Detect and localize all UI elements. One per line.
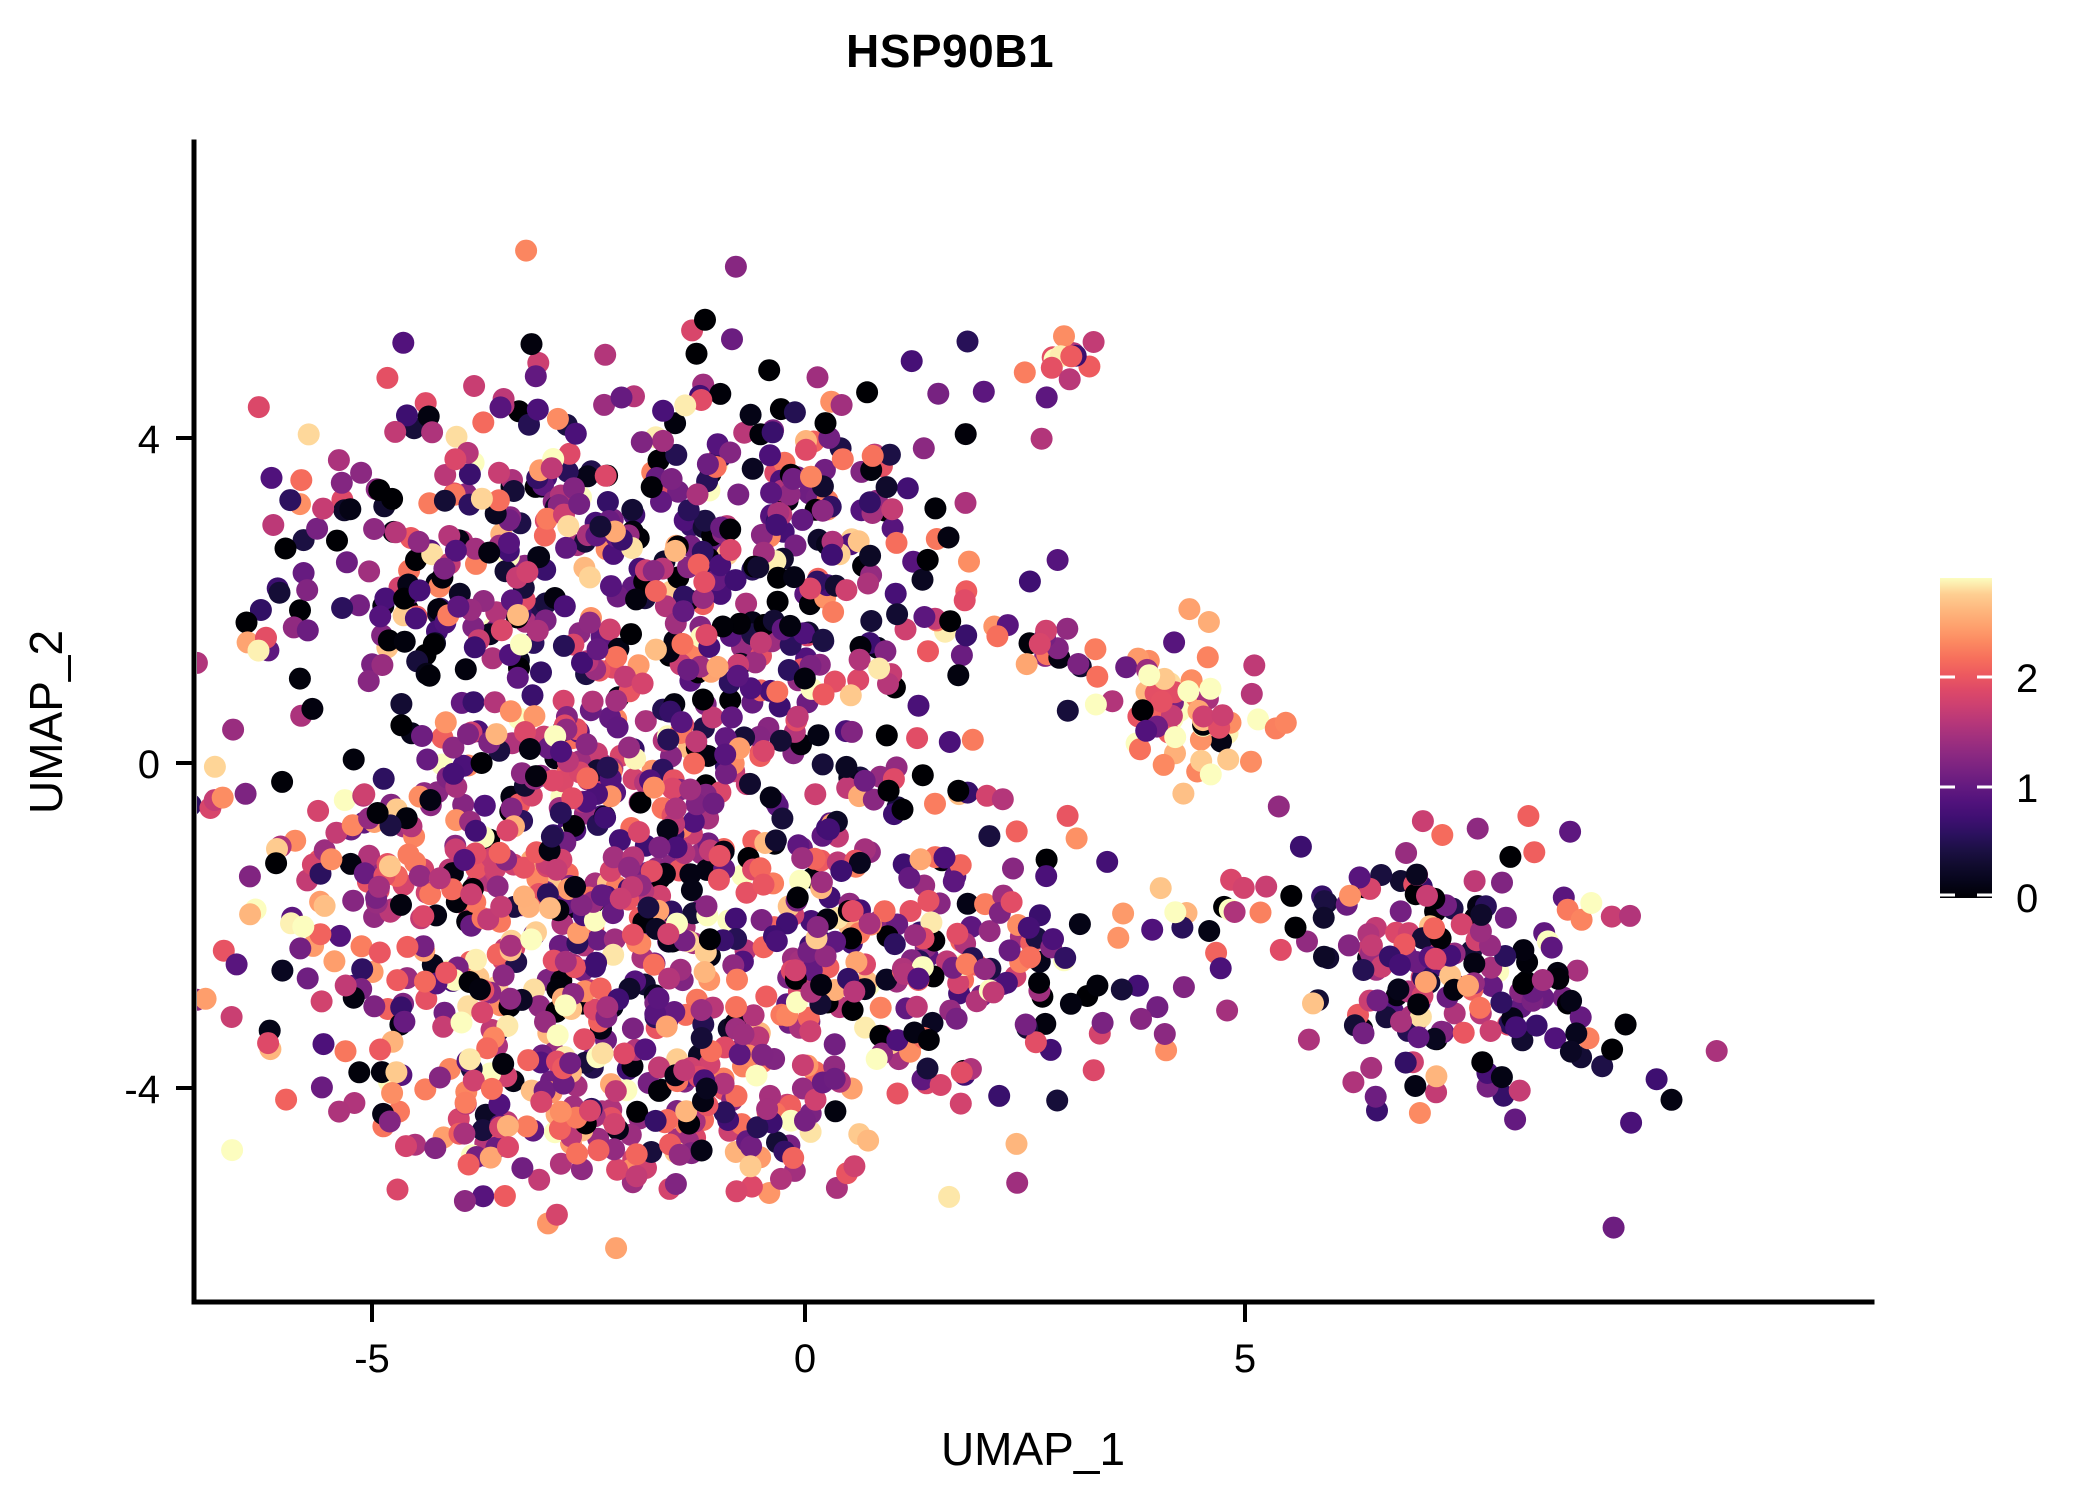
scatter-point: [766, 681, 788, 703]
scatter-point: [443, 763, 465, 785]
scatter-point: [918, 890, 940, 912]
scatter-point: [824, 1033, 846, 1055]
scatter-point: [699, 928, 721, 950]
scatter-point: [691, 1027, 713, 1049]
scatter-point: [1490, 992, 1512, 1014]
scatter-point: [1031, 428, 1053, 450]
scatter-point: [603, 1113, 625, 1135]
scatter-point: [331, 597, 353, 619]
scatter-point: [271, 771, 293, 793]
scatter-point: [709, 845, 731, 867]
scatter-point: [376, 367, 398, 389]
scatter-point: [363, 518, 385, 540]
scatter-point: [460, 883, 482, 905]
scatter-point: [1056, 618, 1078, 640]
scatter-point: [541, 826, 563, 848]
scatter-point: [913, 606, 935, 628]
scatter-point: [1407, 993, 1429, 1015]
scatter-point: [1217, 749, 1239, 771]
scatter-point: [296, 579, 318, 601]
scatter-point: [924, 497, 946, 519]
scatter-point: [1154, 1023, 1176, 1045]
scatter-point: [1404, 1075, 1426, 1097]
scatter-point: [236, 612, 258, 634]
scatter-point: [1523, 841, 1545, 863]
scatter-point: [521, 333, 543, 355]
scatter-point: [435, 962, 457, 984]
scatter-point: [1365, 1086, 1387, 1108]
scatter-point: [725, 256, 747, 278]
scatter-point: [1457, 975, 1479, 997]
scatter-point: [691, 1140, 713, 1162]
scatter-point: [835, 579, 857, 601]
scatter-point: [1560, 990, 1582, 1012]
scatter-point: [297, 967, 319, 989]
scatter-point: [262, 514, 284, 536]
scatter-point: [1173, 976, 1195, 998]
scatter-point: [1313, 946, 1335, 968]
scatter-point: [464, 636, 486, 658]
scatter-point: [1353, 1022, 1375, 1044]
scatter-point: [860, 610, 882, 632]
scatter-point: [522, 684, 544, 706]
scatter-point: [1046, 1090, 1068, 1112]
scatter-point: [876, 476, 898, 498]
scatter-point: [622, 924, 644, 946]
scatter-point: [1212, 704, 1234, 726]
scatter-point: [1412, 810, 1434, 832]
scatter-point: [878, 780, 900, 802]
scatter-point: [696, 1078, 718, 1100]
scatter-point: [1395, 842, 1417, 864]
scatter-point: [517, 1049, 539, 1071]
scatter-point: [686, 343, 708, 365]
scatter-point: [1015, 1014, 1037, 1036]
scatter-point: [1111, 979, 1133, 1001]
scatter-point: [766, 930, 788, 952]
scatter-point: [453, 849, 475, 871]
scatter-point: [471, 488, 493, 510]
scatter-point: [830, 860, 852, 882]
scatter-point: [1042, 928, 1064, 950]
scatter-point: [658, 968, 680, 990]
scatter-point: [885, 583, 907, 605]
scatter-point: [594, 807, 616, 829]
scatter-point: [618, 737, 640, 759]
scatter-point: [955, 492, 977, 514]
scatter-point: [870, 997, 892, 1019]
scatter-point: [1302, 992, 1324, 1014]
scatter-point: [1192, 706, 1214, 728]
scatter-point: [610, 888, 632, 910]
scatter-point: [1002, 858, 1024, 880]
scatter-point: [323, 950, 345, 972]
scatter-point: [756, 1098, 778, 1120]
scatter-point: [1541, 937, 1563, 959]
scatter-point: [546, 859, 568, 881]
scatter-point: [271, 960, 293, 982]
scatter-point: [390, 714, 412, 736]
scatter-point: [910, 848, 932, 870]
scatter-point: [854, 770, 876, 792]
colorbar-label-0: 0: [2016, 877, 2038, 921]
scatter-point: [986, 625, 1008, 647]
scatter-point: [248, 640, 270, 662]
scatter-point: [573, 1028, 595, 1050]
scatter-point: [924, 793, 946, 815]
scatter-point: [497, 1115, 519, 1137]
scatter-point: [767, 591, 789, 613]
scatter-point: [857, 1130, 879, 1152]
scatter-point: [455, 658, 477, 680]
scatter-point: [373, 768, 395, 790]
scatter-point: [1367, 989, 1389, 1011]
scatter-point: [409, 579, 431, 601]
scatter-point: [1028, 972, 1050, 994]
scatter-point: [1092, 1012, 1114, 1034]
scatter-point: [368, 479, 390, 501]
scatter-point: [876, 724, 898, 746]
scatter-point: [1200, 678, 1222, 700]
scatter-point: [631, 431, 653, 453]
x-tick-label-5: 5: [1234, 1337, 1256, 1381]
scatter-point: [787, 887, 809, 909]
scatter-point: [1423, 917, 1445, 939]
scatter-point: [311, 990, 333, 1012]
scatter-point: [992, 788, 1014, 810]
scatter-point: [546, 1204, 568, 1226]
scatter-point: [859, 913, 881, 935]
scatter-point: [385, 521, 407, 543]
scatter-point: [783, 566, 805, 588]
scatter-point: [886, 532, 908, 554]
scatter-point: [657, 923, 679, 945]
scatter-point: [1054, 947, 1076, 969]
scatter-point: [1164, 901, 1186, 923]
scatter-point: [740, 1136, 762, 1158]
scatter-point: [1059, 368, 1081, 390]
scatter-point: [917, 549, 939, 571]
scatter-point: [516, 561, 538, 583]
scatter-point: [835, 756, 857, 778]
scatter-point: [605, 690, 627, 712]
scatter-point: [758, 359, 780, 381]
scatter-point: [729, 1043, 751, 1065]
scatter-point: [1053, 325, 1075, 347]
scatter-point: [831, 394, 853, 416]
scatter-point: [500, 700, 522, 722]
scatter-point: [289, 668, 311, 690]
scatter-point: [387, 1179, 409, 1201]
scatter-point: [887, 1083, 909, 1105]
scatter-point: [421, 421, 443, 443]
scatter-point: [559, 1052, 581, 1074]
scatter-point: [261, 467, 283, 489]
scatter-point: [726, 1180, 748, 1202]
scatter-point: [1224, 901, 1246, 923]
scatter-point: [385, 1061, 407, 1083]
scatter-point: [279, 489, 301, 511]
scatter-point: [988, 1085, 1010, 1107]
scatter-point: [239, 865, 261, 887]
scatter-point: [811, 871, 833, 893]
scatter-point: [369, 942, 391, 964]
scatter-point: [613, 1043, 635, 1065]
scatter-point: [1019, 946, 1041, 968]
scatter-point: [1019, 571, 1041, 593]
scatter-point: [336, 551, 358, 573]
scatter-point: [507, 604, 529, 626]
scatter-point: [326, 530, 348, 552]
scatter-point: [339, 498, 361, 520]
scatter-point: [665, 798, 687, 820]
scatter-point: [239, 903, 261, 925]
scatter-point: [794, 668, 816, 690]
scatter-point: [859, 545, 881, 567]
scatter-point: [1415, 971, 1437, 993]
scatter-point: [488, 462, 510, 484]
scatter-point: [866, 1048, 888, 1070]
scatter-point: [516, 1115, 538, 1137]
scatter-point: [429, 1067, 451, 1089]
scatter-point: [799, 1020, 821, 1042]
scatter-point: [843, 1155, 865, 1177]
scatter-point: [221, 1139, 243, 1161]
scatter-point: [917, 1058, 939, 1080]
scatter-point: [371, 654, 393, 676]
scatter-point: [643, 777, 665, 799]
scatter-point: [800, 466, 822, 488]
scatter-point: [1313, 907, 1335, 929]
scatter-point: [411, 725, 433, 747]
scatter-point: [589, 516, 611, 538]
scatter-point: [1560, 1041, 1582, 1063]
scatter-point: [691, 999, 713, 1021]
scatter-point: [765, 829, 787, 851]
scatter-point: [348, 1061, 370, 1083]
scatter-point: [938, 527, 960, 549]
scatter-point: [913, 437, 935, 459]
scatter-point: [597, 491, 619, 513]
scatter-point: [275, 538, 297, 560]
scatter-point: [927, 383, 949, 405]
scatter-point: [641, 476, 663, 498]
scatter-point: [500, 935, 522, 957]
scatter-point: [1001, 891, 1023, 913]
scatter-point: [485, 723, 507, 745]
scatter-point: [564, 876, 586, 898]
scatter-point: [1163, 631, 1185, 653]
scatter-point: [696, 624, 718, 646]
scatter-point: [1047, 549, 1069, 571]
scatter-point: [620, 623, 642, 645]
scatter-point: [1130, 1008, 1152, 1030]
scatter-point: [1499, 846, 1521, 868]
scatter-point: [727, 665, 749, 687]
scatter-point: [212, 787, 234, 809]
scatter-point: [679, 779, 701, 801]
scatter-point: [1706, 1040, 1728, 1062]
scatter-point: [1566, 960, 1588, 982]
scatter-point: [721, 706, 743, 728]
scatter-point: [918, 1029, 940, 1051]
scatter-point: [1243, 654, 1265, 676]
scatter-point: [1464, 870, 1486, 892]
scatter-point: [703, 793, 725, 815]
scatter-point: [687, 483, 709, 505]
scatter-point: [697, 453, 719, 475]
scatter-point: [1338, 934, 1360, 956]
scatter-point: [652, 430, 674, 452]
scatter-point: [471, 1001, 493, 1023]
scatter-point: [507, 667, 529, 689]
scatter-point: [527, 399, 549, 421]
scatter-point: [656, 1016, 678, 1038]
scatter-plot-svg: 4 0 -4 -5 0 5 UMAP_1 UMAP_2 2 1 0: [0, 0, 2100, 1500]
scatter-point: [652, 400, 674, 422]
scatter-point: [539, 897, 561, 919]
scatter-point: [1526, 1015, 1548, 1037]
scatter-point: [222, 719, 244, 741]
scatter-point: [912, 764, 934, 786]
scatter-point: [1495, 907, 1517, 929]
scatter-point: [779, 615, 801, 637]
scatter-point: [1197, 646, 1219, 668]
scatter-point: [760, 786, 782, 808]
scatter-point: [1240, 751, 1262, 773]
scatter-point: [1646, 1068, 1668, 1090]
scatter-point: [396, 936, 418, 958]
scatter-point: [490, 396, 512, 418]
scatter-point: [419, 665, 441, 687]
scatter-point: [715, 763, 737, 785]
scatter-point: [810, 974, 832, 996]
scatter-point: [147, 1016, 169, 1038]
scatter-point: [312, 498, 334, 520]
scatter-point: [1290, 836, 1312, 858]
scatter-point: [1425, 948, 1447, 970]
scatter-point: [550, 741, 572, 763]
scatter-point: [463, 691, 485, 713]
scatter-point: [1057, 805, 1079, 827]
scatter-point: [329, 925, 351, 947]
scatter-point: [821, 544, 843, 566]
scatter-point: [342, 890, 364, 912]
scatter-point: [904, 924, 926, 946]
scatter-point: [555, 537, 577, 559]
scatter-point: [843, 981, 865, 1003]
scatter-point: [1112, 903, 1134, 925]
scatter-point: [395, 1135, 417, 1157]
scatter-point: [1416, 885, 1438, 907]
scatter-point: [358, 560, 380, 582]
scatter-point: [951, 644, 973, 666]
scatter-point: [626, 1165, 648, 1187]
scatter-point: [350, 462, 372, 484]
scatter-point: [950, 1093, 972, 1115]
scatter-point: [298, 423, 320, 445]
scatter-point: [1250, 902, 1272, 924]
chart-root: HSP90B1: [0, 0, 2100, 1500]
scatter-point: [637, 897, 659, 919]
scatter-point: [491, 619, 513, 641]
scatter-point: [1268, 796, 1290, 818]
scatter-point: [787, 706, 809, 728]
scatter-point: [498, 532, 520, 554]
scatter-point: [906, 996, 928, 1018]
scatter-point: [1241, 683, 1263, 705]
scatter-point: [1084, 638, 1106, 660]
scatter-point: [1504, 1109, 1526, 1131]
scatter-point: [1280, 885, 1302, 907]
scatter-point: [1172, 783, 1194, 805]
scatter-point: [597, 757, 619, 779]
scatter-point: [917, 640, 939, 662]
scatter-point: [1509, 1080, 1531, 1102]
scatter-point: [409, 865, 431, 887]
scatter-point: [760, 482, 782, 504]
scatter-point: [725, 908, 747, 930]
scatter-point: [472, 411, 494, 433]
scatter-point: [1069, 913, 1091, 935]
scatter-point: [171, 621, 193, 643]
scatter-point: [725, 996, 747, 1018]
scatter-point: [1619, 905, 1641, 927]
scatter-point: [886, 603, 908, 625]
scatter-point: [547, 1024, 569, 1046]
colorbar-label-1: 1: [2016, 767, 2038, 811]
scatter-point: [673, 1059, 695, 1081]
scatter-point: [626, 1143, 648, 1165]
scatter-point: [257, 1032, 279, 1054]
scatter-point: [747, 556, 769, 578]
scatter-point: [812, 629, 834, 651]
scatter-point: [579, 612, 601, 634]
scatter-point: [755, 986, 777, 1008]
scatter-point: [859, 491, 881, 513]
scatter-point: [599, 619, 621, 641]
scatter-point: [694, 961, 716, 983]
scatter-point: [726, 969, 748, 991]
scatter-point: [369, 1039, 391, 1061]
scatter-point: [812, 753, 834, 775]
scatter-point: [367, 802, 389, 824]
scatter-point: [469, 978, 491, 1000]
scatter-point: [1390, 900, 1412, 922]
scatter-point: [429, 867, 451, 889]
scatter-point: [643, 560, 665, 582]
scatter-point: [762, 421, 784, 443]
scatter-point: [1603, 1217, 1625, 1239]
scatter-point: [671, 711, 693, 733]
scatter-point: [791, 847, 813, 869]
scatter-point: [634, 1038, 656, 1060]
scatter-point: [343, 749, 365, 771]
scatter-point: [520, 928, 542, 950]
scatter-point: [386, 969, 408, 991]
scatter-point: [943, 870, 965, 892]
scatter-point: [1164, 726, 1186, 748]
scatter-point: [607, 716, 629, 738]
scatter-point: [962, 729, 984, 751]
scatter-point: [1067, 653, 1089, 675]
scatter-point: [600, 575, 622, 597]
scatter-point: [795, 439, 817, 461]
scatter-point: [1453, 1022, 1475, 1044]
scatter-point: [714, 744, 736, 766]
scatter-point: [363, 995, 385, 1017]
scatter-point: [665, 1173, 687, 1195]
